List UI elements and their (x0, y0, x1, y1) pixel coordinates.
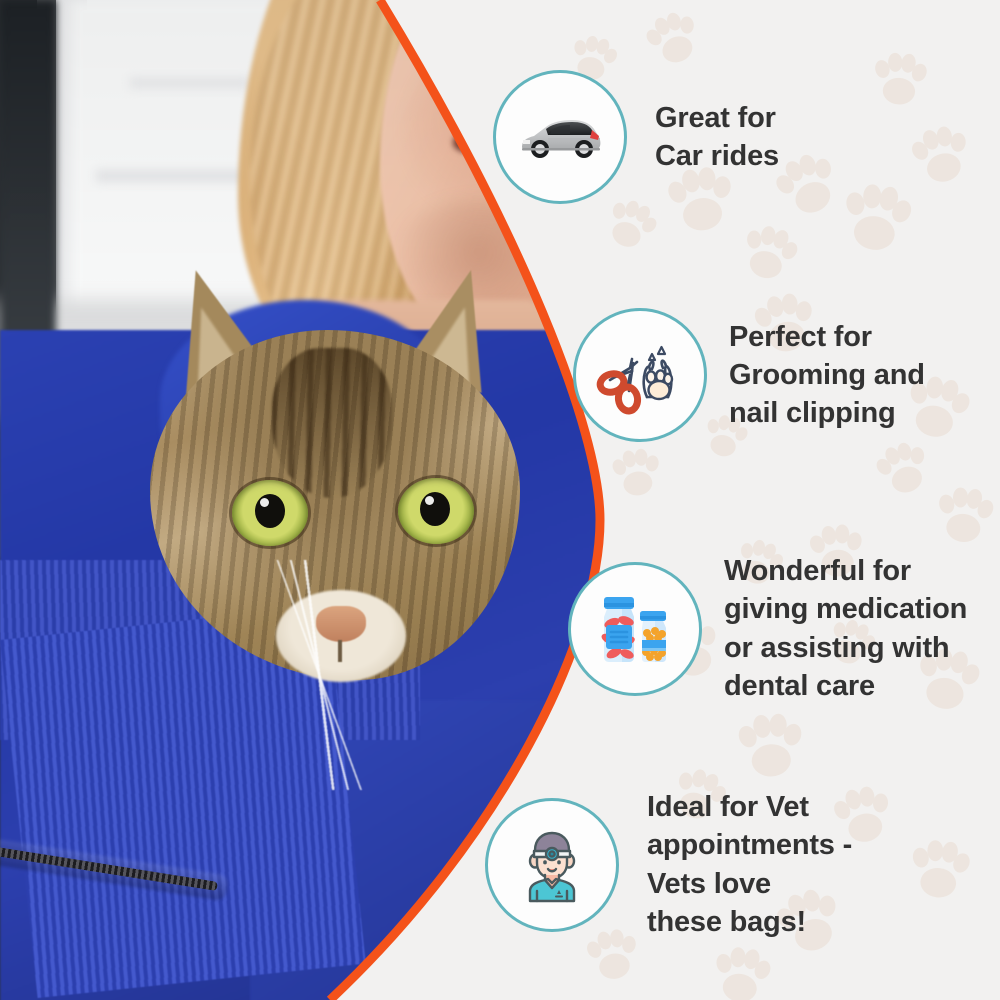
feature-badge-car-rides (493, 70, 627, 204)
feature-label-car-rides: Great for Car rides (655, 99, 779, 176)
medicine-bottles-icon (587, 581, 683, 677)
feature-item-vet-appointments[interactable]: Ideal for Vet appointments - Vets love t… (485, 788, 852, 941)
feature-label-grooming: Perfect for Grooming and nail clipping (729, 318, 925, 433)
feature-list: Great for Car rides (465, 0, 1000, 1000)
nail-clipper-paw-icon (592, 327, 688, 423)
feature-item-car-rides[interactable]: Great for Car rides (493, 70, 779, 204)
feature-badge-grooming (573, 308, 707, 442)
feature-label-medication: Wonderful for giving medication or assis… (724, 552, 967, 705)
feature-badge-vet (485, 798, 619, 932)
feature-item-medication[interactable]: Wonderful for giving medication or assis… (568, 552, 967, 705)
product-feature-infographic: Great for Car rides (0, 0, 1000, 1000)
car-icon (512, 89, 608, 185)
veterinarian-icon (504, 817, 600, 913)
feature-badge-medication (568, 562, 702, 696)
feature-item-grooming[interactable]: Perfect for Grooming and nail clipping (573, 308, 925, 442)
feature-label-vet: Ideal for Vet appointments - Vets love t… (647, 788, 852, 941)
